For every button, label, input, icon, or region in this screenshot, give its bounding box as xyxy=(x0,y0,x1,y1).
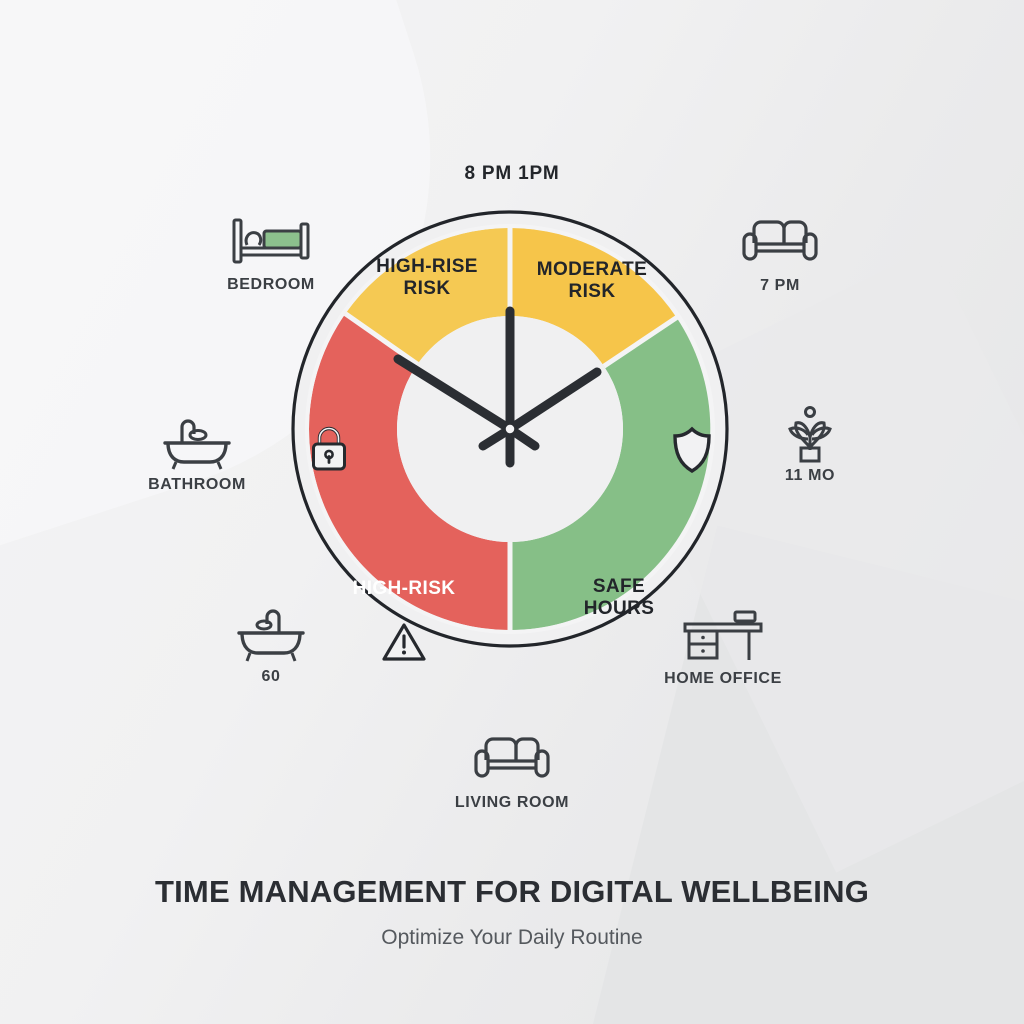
callout-caption: BEDROOM xyxy=(196,276,346,294)
risk-clock-dial[interactable]: HIGH-RISE RISK MODERATE RISK HIGH-RISK S… xyxy=(284,203,736,655)
callout-home-office[interactable]: HOME OFFICE xyxy=(648,608,798,688)
dial-svg xyxy=(284,203,736,655)
bathtub-shower-icon xyxy=(196,606,346,660)
desk-icon xyxy=(648,608,798,662)
callout-caption: 11 MO xyxy=(735,467,885,485)
page-title: TIME MANAGEMENT FOR DIGITAL WELLBEING xyxy=(0,874,1024,910)
callout-living-room[interactable]: LIVING ROOM xyxy=(437,732,587,812)
callout-bathroom[interactable]: BATHROOM xyxy=(122,414,272,494)
sofa-icon xyxy=(705,215,855,269)
callout-caption: 7 PM xyxy=(705,277,855,295)
callout-caption: LIVING ROOM xyxy=(437,794,587,812)
callout-caption: 60 xyxy=(196,668,346,686)
callout-caption: BATHROOM xyxy=(122,476,272,494)
bed-icon xyxy=(196,214,346,268)
callout-sofa-7pm[interactable]: 7 PM xyxy=(705,215,855,295)
callout-bedroom[interactable]: BEDROOM xyxy=(196,214,346,294)
callout-bathtub-60[interactable]: 60 xyxy=(196,606,346,686)
infographic-canvas: 8 PM 1PM xyxy=(0,0,1024,1024)
sofa-icon xyxy=(437,732,587,786)
clock-hub xyxy=(505,424,516,435)
callout-plant[interactable]: 11 MO xyxy=(735,405,885,485)
callout-caption: HOME OFFICE xyxy=(648,670,798,688)
bathtub-shower-icon xyxy=(122,414,272,468)
top-time-tick: 8 PM 1PM xyxy=(362,163,662,185)
page-subtitle: Optimize Your Daily Routine xyxy=(0,926,1024,950)
footer: TIME MANAGEMENT FOR DIGITAL WELLBEING Op… xyxy=(0,874,1024,950)
potted-plant-icon xyxy=(735,405,885,459)
